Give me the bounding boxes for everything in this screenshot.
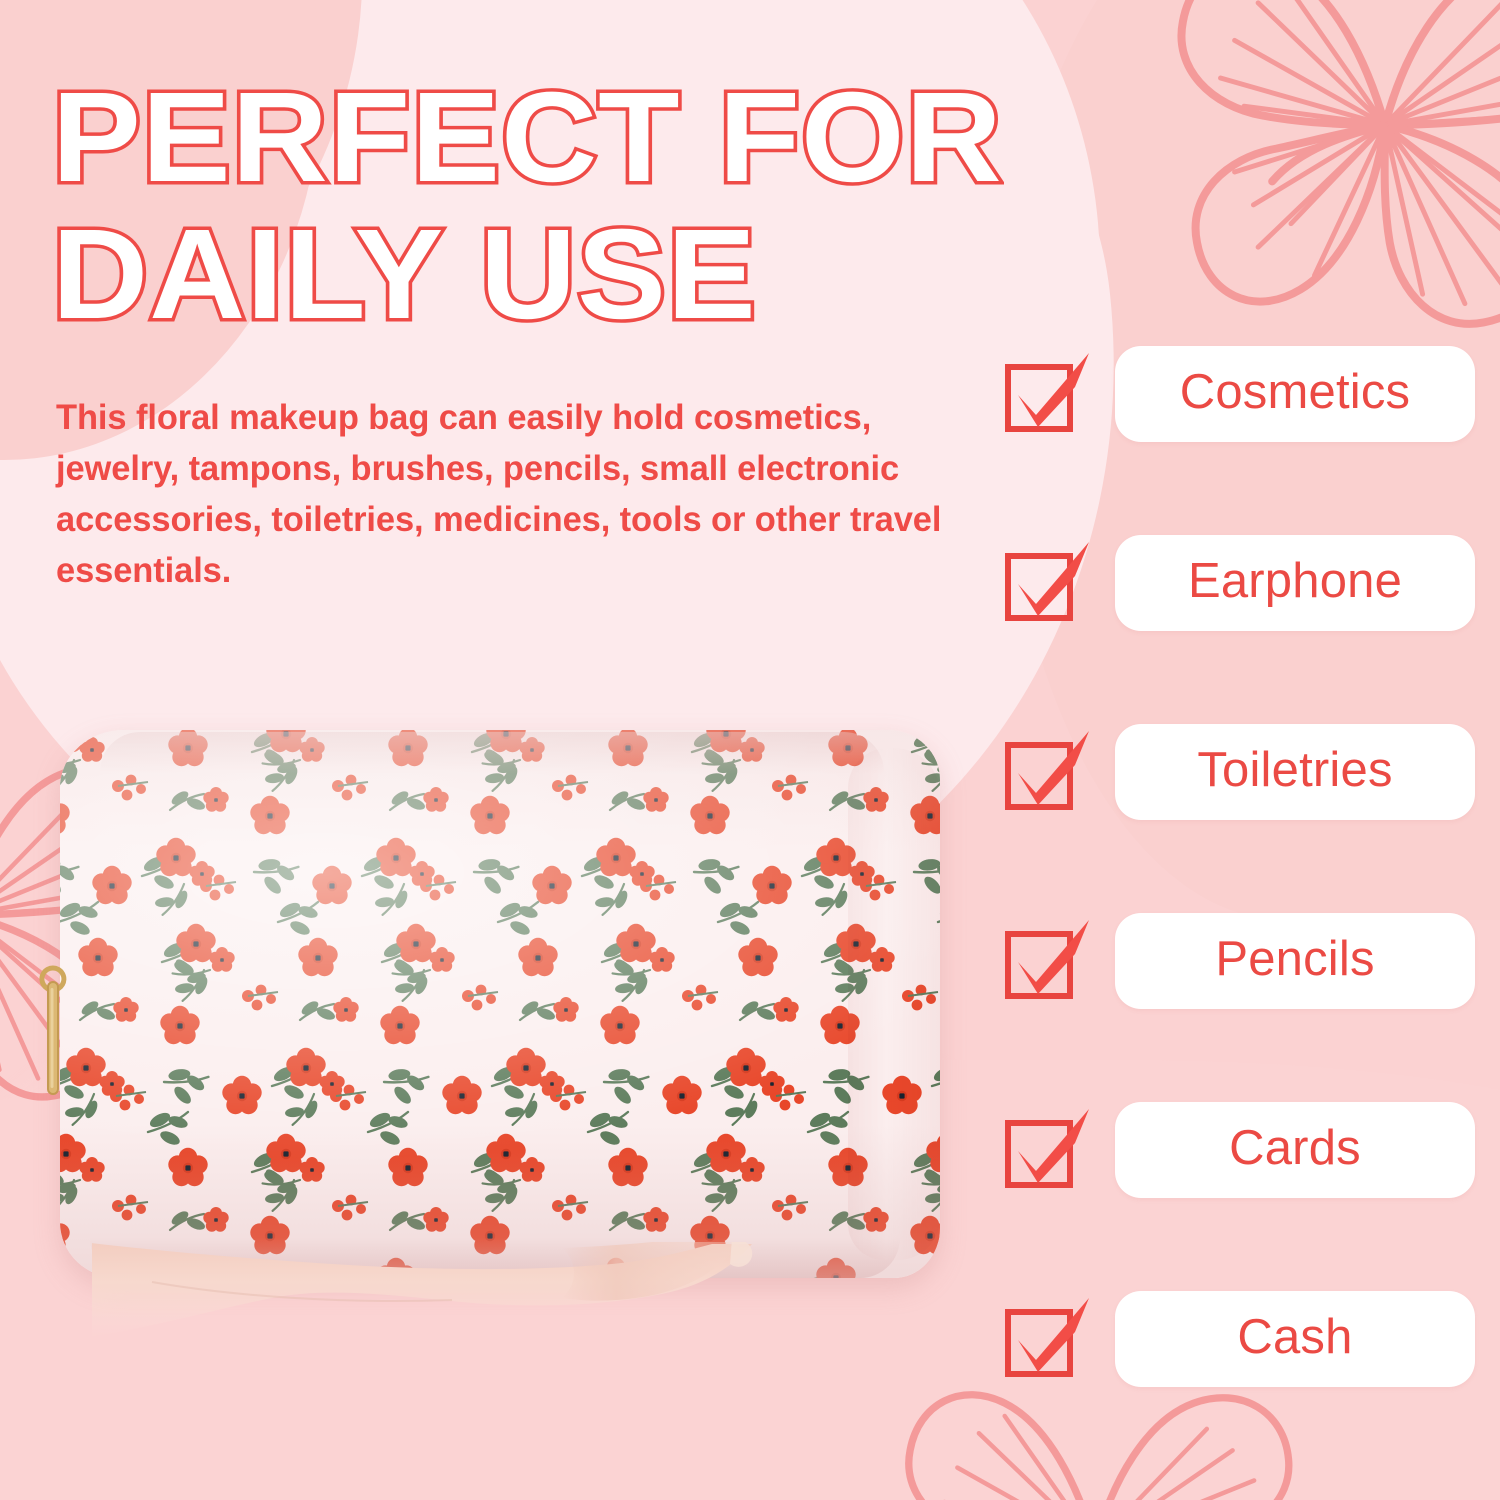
checklist-item[interactable]: Pencils <box>1005 912 1475 1010</box>
headline-line-2: DAILY USE <box>52 215 1071 334</box>
headline-line-1: PERFECT FOR <box>52 78 1071 197</box>
checklist-pill[interactable]: Pencils <box>1115 913 1475 1009</box>
checklist-label: Toiletries <box>1197 746 1392 799</box>
floral-pattern <box>60 730 940 1278</box>
promo-banner: PERFECT FOR DAILY USE This floral makeup… <box>0 0 1500 1500</box>
checkbox-checked-icon[interactable] <box>1005 546 1079 620</box>
checklist-pill[interactable]: Cosmetics <box>1115 346 1475 442</box>
checklist-pill[interactable]: Earphone <box>1115 535 1475 631</box>
checklist-label: Earphone <box>1188 557 1402 610</box>
feature-checklist: Cosmetics Earphone Toiletr <box>1005 345 1475 1388</box>
checklist-item[interactable]: Cosmetics <box>1005 345 1475 443</box>
description-paragraph: This floral makeup bag can easily hold c… <box>56 392 982 596</box>
bag-side-gusset <box>848 748 940 1260</box>
checklist-label: Cash <box>1237 1313 1352 1366</box>
checklist-pill[interactable]: Cash <box>1115 1291 1475 1387</box>
checklist-item[interactable]: Earphone <box>1005 534 1475 632</box>
bag-body <box>60 730 940 1278</box>
checkbox-checked-icon[interactable] <box>1005 1302 1079 1376</box>
bag-top-seam <box>100 732 884 774</box>
headline: PERFECT FOR DAILY USE <box>52 78 1032 334</box>
checklist-pill[interactable]: Cards <box>1115 1102 1475 1198</box>
hand-holding-product <box>92 1242 822 1392</box>
checkbox-checked-icon[interactable] <box>1005 357 1079 431</box>
checklist-label: Pencils <box>1215 935 1374 988</box>
product-image-makeup-bag <box>28 720 958 1300</box>
checkbox-checked-icon[interactable] <box>1005 924 1079 998</box>
checklist-label: Cosmetics <box>1180 368 1411 421</box>
checkbox-checked-icon[interactable] <box>1005 1113 1079 1187</box>
checklist-pill[interactable]: Toiletries <box>1115 724 1475 820</box>
checklist-label: Cards <box>1229 1124 1361 1177</box>
zipper-pull-icon <box>36 958 70 1108</box>
checklist-item[interactable]: Toiletries <box>1005 723 1475 821</box>
checkbox-checked-icon[interactable] <box>1005 735 1079 809</box>
checklist-item[interactable]: Cash <box>1005 1290 1475 1388</box>
checklist-item[interactable]: Cards <box>1005 1101 1475 1199</box>
